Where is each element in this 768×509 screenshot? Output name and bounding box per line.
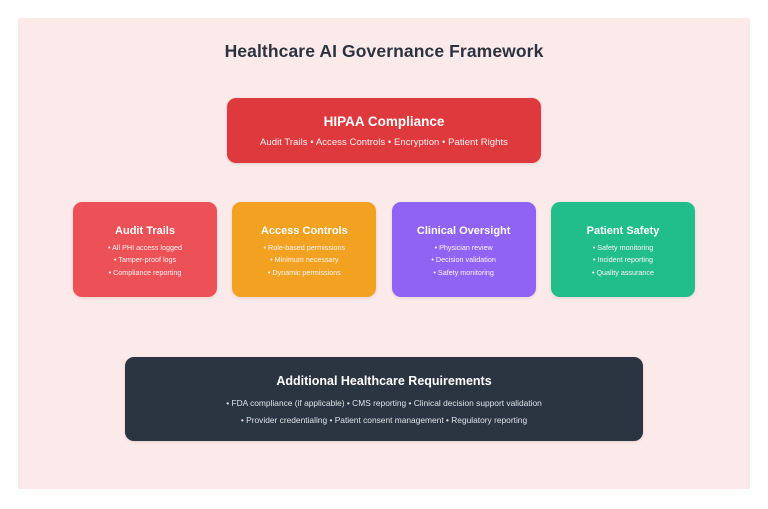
hipaa-compliance-subtitle: Audit Trails • Access Controls • Encrypt…	[260, 137, 508, 148]
pillar-card-access-controls[interactable]: Access Controls • Role-based permissions…	[232, 202, 376, 297]
pillar-item: • Compliance reporting	[109, 269, 182, 276]
hipaa-compliance-block[interactable]: HIPAA Compliance Audit Trails • Access C…	[227, 98, 541, 163]
additional-requirements-line: • Provider credentialing • Patient conse…	[241, 416, 527, 425]
pillar-title: Audit Trails	[115, 225, 175, 237]
pillar-item: • Minimum necessary	[270, 256, 338, 263]
additional-requirements-block[interactable]: Additional Healthcare Requirements • FDA…	[125, 357, 643, 441]
pillar-item: • Safety monitoring	[433, 269, 493, 276]
framework-panel: Healthcare AI Governance Framework HIPAA…	[18, 18, 750, 489]
pillar-item: • Safety monitoring	[593, 244, 653, 251]
pillar-item: • Dynamic permissions	[268, 269, 341, 276]
page-title: Healthcare AI Governance Framework	[18, 41, 750, 62]
hipaa-compliance-title: HIPAA Compliance	[324, 114, 445, 129]
pillar-card-audit-trails[interactable]: Audit Trails • All PHI access logged • T…	[73, 202, 217, 297]
pillar-card-row: Audit Trails • All PHI access logged • T…	[73, 202, 695, 297]
pillar-title: Access Controls	[261, 225, 348, 237]
pillar-card-patient-safety[interactable]: Patient Safety • Safety monitoring • Inc…	[551, 202, 695, 297]
pillar-title: Patient Safety	[587, 225, 660, 237]
pillar-item: • Decision validation	[431, 256, 495, 263]
pillar-card-clinical-oversight[interactable]: Clinical Oversight • Physician review • …	[392, 202, 536, 297]
pillar-item: • All PHI access logged	[108, 244, 182, 251]
pillar-item-list: • Physician review • Decision validation…	[431, 244, 495, 276]
pillar-item: • Tamper-proof logs	[114, 256, 176, 263]
pillar-item-list: • All PHI access logged • Tamper-proof l…	[108, 244, 182, 276]
additional-requirements-line: • FDA compliance (if applicable) • CMS r…	[226, 399, 542, 408]
pillar-item: • Incident reporting	[593, 256, 653, 263]
pillar-item-list: • Role-based permissions • Minimum neces…	[264, 244, 346, 276]
additional-requirements-title: Additional Healthcare Requirements	[276, 374, 491, 388]
pillar-title: Clinical Oversight	[417, 225, 511, 237]
pillar-item-list: • Safety monitoring • Incident reporting…	[592, 244, 654, 276]
pillar-item: • Role-based permissions	[264, 244, 346, 251]
pillar-item: • Quality assurance	[592, 269, 654, 276]
pillar-item: • Physician review	[435, 244, 493, 251]
